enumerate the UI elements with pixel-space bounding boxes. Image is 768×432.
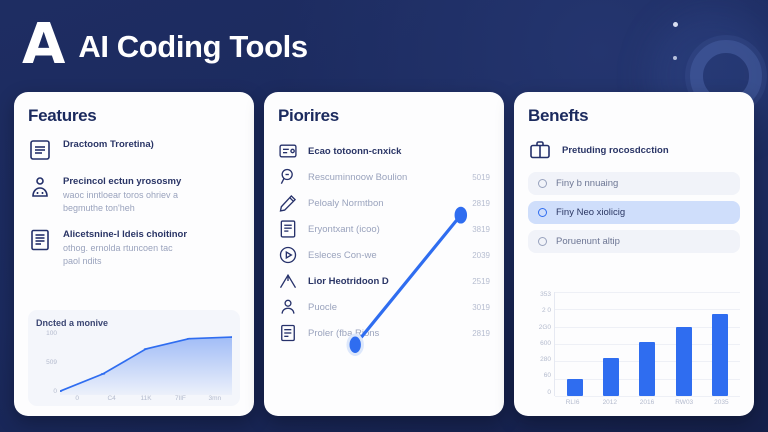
priority-row[interactable]: Peloaly Normtbon 2819	[278, 190, 490, 216]
article-icon	[278, 323, 298, 343]
benefit-pill[interactable]: Finy b nnuaing	[528, 172, 740, 195]
priority-value: 3019	[472, 303, 490, 312]
benefits-card-title: Benefts	[528, 106, 740, 126]
benefits-summary-row[interactable]: Pretuding rocosdcction	[528, 138, 740, 162]
feature-subline: othog. ernolda rtuncoen tac	[63, 242, 240, 255]
priority-label: Eryontxant (icoo)	[308, 224, 462, 235]
radio-icon	[538, 179, 547, 188]
user-icon	[278, 297, 298, 317]
y-tick: 600	[540, 341, 551, 348]
x-tick: 11K	[129, 395, 163, 402]
priority-value: 3819	[472, 225, 490, 234]
benefit-pill-label: Poruenunt altip	[556, 236, 620, 247]
feature-row[interactable]: Precincol ectun yrososmy waoc inntloear …	[28, 175, 240, 215]
y-tick: 60	[544, 373, 551, 380]
x-tick: RLI6	[554, 396, 591, 406]
priority-label: Peloaly Normtbon	[308, 198, 462, 209]
x-tick: 0	[60, 395, 94, 402]
features-card: Features Dractoom Troretina)	[14, 92, 254, 416]
priority-label: Puocle	[308, 302, 462, 313]
document-icon	[28, 228, 52, 252]
chart-up-icon	[278, 271, 298, 291]
feature-subline: begmuthe ton'heh	[63, 202, 240, 215]
bar[interactable]	[712, 314, 728, 396]
person-icon	[28, 175, 52, 199]
feature-row[interactable]: Alicetsnine-l ldeis choitinor othog. ern…	[28, 228, 240, 268]
x-tick: 2016	[628, 396, 665, 406]
priorities-card-title: Piorires	[278, 106, 490, 126]
feature-subline: waoc inntloear toros ohriev a	[63, 189, 240, 202]
x-tick: 2012	[591, 396, 628, 406]
benefit-pill[interactable]: Poruenunt altip	[528, 230, 740, 253]
briefcase-icon	[528, 138, 552, 162]
page-header: A AI Coding Tools	[0, 0, 768, 90]
priority-value: 2819	[472, 199, 490, 208]
bar[interactable]	[603, 358, 619, 396]
bar-chart-x-axis: RLI6 2012 2016 RW03 2035	[528, 396, 740, 406]
line-chart-x-axis: 0 C4 11K 7IlF 3mn	[36, 395, 232, 402]
priority-row[interactable]: Lior Heotridoon D 2519	[278, 268, 490, 294]
benefit-pill-selected[interactable]: Finy Neo xiolicig	[528, 201, 740, 224]
features-card-title: Features	[28, 106, 240, 126]
y-tick: 2 0	[542, 308, 551, 315]
benefit-pill-label: Finy b nnuaing	[556, 178, 618, 189]
trend-chart-title: Dncted a monive	[36, 318, 232, 328]
feature-heading: Precincol ectun yrososmy	[63, 176, 240, 189]
play-circle-icon	[278, 245, 298, 265]
bar-chart-y-axis: 353 2 0 2G0 600 280 60 0	[528, 292, 554, 396]
priority-value: 2819	[472, 329, 490, 338]
magnifier-icon	[278, 167, 298, 187]
x-tick: 2035	[703, 396, 740, 406]
card-grid: Features Dractoom Troretina)	[14, 92, 754, 416]
line-chart-svg	[60, 331, 232, 395]
radio-icon	[538, 237, 547, 246]
logo-icon: A	[22, 17, 64, 73]
priorities-card: Piorires Ecao totoonn-cnxick Rescuminnoo…	[264, 92, 504, 416]
y-tick: 353	[540, 292, 551, 299]
page-title: AI Coding Tools	[78, 29, 307, 65]
bar[interactable]	[676, 327, 692, 396]
x-tick: C4	[94, 395, 128, 402]
y-tick: 2G0	[539, 325, 551, 332]
benefit-pill-label: Finy Neo xiolicig	[556, 207, 625, 218]
priority-label: Rescuminnoow Boulion	[308, 172, 462, 183]
priority-row[interactable]: Esleces Con-we 2039	[278, 242, 490, 268]
x-tick: 7IlF	[163, 395, 197, 402]
feature-row[interactable]: Dractoom Troretina)	[28, 138, 240, 162]
priority-row[interactable]: Rescuminnoow Boulion 5019	[278, 164, 490, 190]
priority-row[interactable]: Proler (fba Rions 2819	[278, 320, 490, 346]
feature-subline: paol ndits	[63, 255, 240, 268]
priority-value: 2519	[472, 277, 490, 286]
priority-row[interactable]: Eryontxant (icoo) 3819	[278, 216, 490, 242]
x-tick: 3mn	[198, 395, 232, 402]
priority-label: Ecao totoonn-cnxick	[308, 146, 480, 157]
priority-value: 5019	[472, 173, 490, 182]
feature-heading: Dractoom Troretina)	[63, 139, 240, 152]
id-card-icon	[278, 141, 298, 161]
gridline	[555, 309, 740, 310]
priority-label: Lior Heotridoon D	[308, 276, 462, 287]
y-tick: 280	[540, 357, 551, 364]
gridline	[555, 292, 740, 293]
radio-icon	[538, 208, 547, 217]
benefits-card: Benefts Pretuding rocosdcction Finy b nn…	[514, 92, 754, 416]
line-chart-plot-area	[60, 331, 232, 395]
y-tick: 100	[46, 331, 57, 338]
y-tick: 509	[46, 360, 57, 367]
priority-label: Proler (fba Rions	[308, 328, 462, 339]
bar-chart-plot-area	[554, 292, 740, 396]
bar[interactable]	[639, 342, 655, 396]
trend-line-chart: Dncted a monive 100 509 0	[28, 310, 240, 406]
priority-row[interactable]: Puocle 3019	[278, 294, 490, 320]
growth-bar-chart: 353 2 0 2G0 600 280 60 0 RLI6 2012 2016 …	[528, 288, 740, 406]
bar[interactable]	[567, 379, 583, 396]
benefits-summary-label: Pretuding rocosdcction	[562, 145, 669, 156]
pencil-icon	[278, 193, 298, 213]
line-chart-y-axis: 100 509 0	[36, 331, 60, 395]
feature-heading: Alicetsnine-l ldeis choitinor	[63, 229, 240, 242]
priority-label: Esleces Con-we	[308, 250, 462, 261]
form-icon	[278, 219, 298, 239]
priority-value: 2039	[472, 251, 490, 260]
x-tick: RW03	[666, 396, 703, 406]
list-icon	[28, 138, 52, 162]
priority-row[interactable]: Ecao totoonn-cnxick	[278, 138, 490, 164]
